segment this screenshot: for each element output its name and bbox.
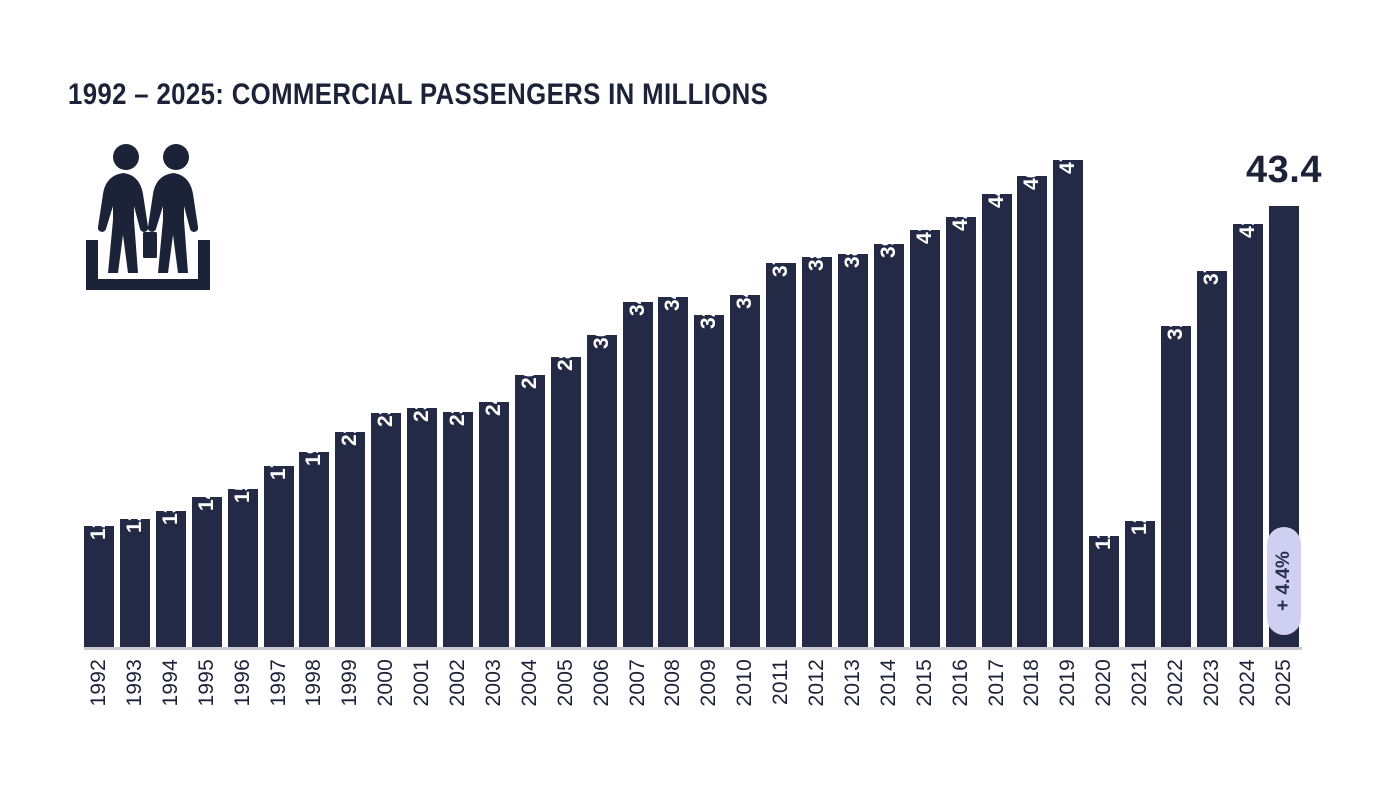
x-tick-label: 2007 — [626, 659, 650, 707]
bar-2025[interactable]: 43.4+ 4.4% — [1269, 206, 1299, 649]
bar-2004[interactable]: 26.8 — [515, 375, 545, 649]
x-tick-2015: 2015 — [910, 655, 940, 745]
bar-2002[interactable]: 23.2 — [443, 412, 473, 649]
x-tick-2003: 2003 — [479, 655, 509, 745]
x-tick-2024: 2024 — [1233, 655, 1263, 745]
x-tick-1993: 1993 — [120, 655, 150, 745]
bar-rect[interactable] — [264, 466, 294, 649]
x-tick-1994: 1994 — [156, 655, 186, 745]
x-tick-1995: 1995 — [192, 655, 222, 745]
x-tick-label: 2016 — [949, 659, 973, 707]
x-tick-1992: 1992 — [84, 655, 114, 745]
bar-rect[interactable] — [1125, 521, 1155, 649]
bar-1994[interactable]: 13.5 — [156, 511, 186, 649]
bar-2020[interactable]: 11.1 — [1089, 536, 1119, 649]
bar-1993[interactable]: 12.7 — [120, 519, 150, 649]
bar-2014[interactable]: 39.7 — [874, 244, 904, 649]
bar-value-label: 38.7 — [841, 226, 865, 268]
x-tick-label: 2012 — [805, 659, 829, 707]
bar-rect[interactable] — [84, 526, 114, 649]
bar-value-label: 31.6 — [1164, 298, 1188, 340]
x-tick-label: 2017 — [985, 659, 1009, 707]
bar-2005[interactable]: 28.6 — [551, 357, 581, 649]
x-tick-label: 2025 — [1272, 659, 1296, 707]
bar-rect[interactable] — [192, 497, 222, 649]
bar-rect[interactable] — [802, 257, 832, 649]
bar-rect[interactable] — [228, 489, 258, 649]
bars-container: 12.012.713.514.915.717.919.321.323.123.6… — [84, 160, 1299, 649]
x-tick-2022: 2022 — [1161, 655, 1191, 745]
bar-rect[interactable] — [1161, 326, 1191, 649]
bar-value-label: 44.6 — [985, 166, 1009, 208]
x-tick-2012: 2012 — [802, 655, 832, 745]
bar-value-label: 11.1 — [1092, 509, 1116, 550]
x-tick-2011: 2011 — [766, 655, 796, 745]
x-tick-label: 2019 — [1056, 659, 1080, 707]
x-tick-2001: 2001 — [407, 655, 437, 745]
x-tick-2010: 2010 — [730, 655, 760, 745]
bar-2022[interactable]: 31.6 — [1161, 326, 1191, 649]
bar-value-label: 47.9 — [1056, 132, 1080, 174]
x-tick-label: 2021 — [1128, 659, 1152, 707]
bar-2008[interactable]: 34.5 — [658, 297, 688, 649]
x-tick-label: 1995 — [195, 659, 219, 707]
x-tick-2018: 2018 — [1017, 655, 1047, 745]
axis-baseline — [84, 647, 1302, 650]
bar-value-label: 12.0 — [87, 498, 111, 540]
bar-value-label: 38.4 — [805, 229, 829, 271]
x-tick-label: 2010 — [733, 659, 757, 707]
bar-rect[interactable] — [838, 254, 868, 649]
bar-2024[interactable]: 41.6 — [1233, 224, 1263, 649]
bar-rect[interactable] — [1017, 176, 1047, 649]
bar-2003[interactable]: 24.2 — [479, 402, 509, 649]
bar-value-label: 32.7 — [697, 287, 721, 329]
x-tick-2013: 2013 — [838, 655, 868, 745]
x-tick-label: 2000 — [374, 659, 398, 707]
bar-value-label: 12.5 — [1128, 493, 1152, 535]
x-tick-1997: 1997 — [264, 655, 294, 745]
bar-rect[interactable] — [1233, 224, 1263, 649]
bar-2021[interactable]: 12.5 — [1125, 521, 1155, 649]
bar-value-label: 15.7 — [231, 461, 255, 503]
x-tick-label: 2023 — [1200, 659, 1224, 707]
x-tick-label: 2005 — [554, 659, 578, 707]
x-tick-label: 2006 — [590, 659, 614, 707]
bar-rect[interactable] — [658, 297, 688, 649]
bar-2006[interactable]: 30.8 — [587, 335, 617, 649]
x-tick-label: 2009 — [697, 659, 721, 707]
x-axis-labels: 1992199319941995199619971998199920002001… — [84, 655, 1302, 755]
x-tick-2023: 2023 — [1197, 655, 1227, 745]
bar-2019[interactable]: 47.9 — [1053, 160, 1083, 649]
x-tick-2014: 2014 — [874, 655, 904, 745]
x-tick-1999: 1999 — [335, 655, 365, 745]
x-tick-2006: 2006 — [587, 655, 617, 745]
bar-2018[interactable]: 46.3 — [1017, 176, 1047, 649]
x-tick-label: 2003 — [482, 659, 506, 707]
x-tick-2009: 2009 — [694, 655, 724, 745]
x-tick-2005: 2005 — [551, 655, 581, 745]
chart-canvas: 1992 – 2025: COMMERCIAL PASSENGERS IN MI… — [0, 0, 1400, 800]
bar-2016[interactable]: 42.3 — [946, 217, 976, 649]
bar-value-label: 13.5 — [159, 483, 183, 525]
bar-value-label: 14.9 — [195, 469, 219, 511]
bar-value-label: 26.8 — [518, 347, 542, 389]
bar-rect[interactable] — [371, 413, 401, 649]
bar-rect[interactable] — [299, 452, 329, 649]
bar-2013[interactable]: 38.7 — [838, 254, 868, 649]
bar-value-label: 34.5 — [661, 269, 685, 311]
bar-rect[interactable] — [407, 408, 437, 649]
bar-value-label: 37.0 — [1200, 243, 1224, 285]
bar-value-label: 24.2 — [482, 374, 506, 416]
bar-value-label: 23.6 — [410, 380, 434, 422]
bar-value-label: 34.0 — [626, 274, 650, 316]
x-tick-label: 2013 — [841, 659, 865, 707]
x-tick-label: 1999 — [338, 659, 362, 707]
x-tick-label: 1998 — [302, 659, 326, 707]
bar-value-label: 17.9 — [267, 438, 291, 480]
bar-value-label: 39.7 — [877, 216, 901, 258]
bar-2007[interactable]: 34.0 — [623, 302, 653, 649]
x-tick-label: 2004 — [518, 659, 542, 707]
bar-1997[interactable]: 17.9 — [264, 466, 294, 649]
bar-1995[interactable]: 14.9 — [192, 497, 222, 649]
bar-value-label: 37.8 — [769, 235, 793, 277]
page-title: 1992 – 2025: COMMERCIAL PASSENGERS IN MI… — [68, 78, 768, 112]
bar-value-label: 23.2 — [446, 384, 470, 426]
bar-value-label: 21.3 — [338, 404, 362, 446]
x-tick-label: 2022 — [1164, 659, 1188, 707]
x-tick-label: 2001 — [410, 659, 434, 707]
x-tick-2017: 2017 — [982, 655, 1012, 745]
bar-2023[interactable]: 37.0 — [1197, 271, 1227, 649]
bar-value-label: 41.6 — [1236, 196, 1260, 238]
x-tick-label: 2018 — [1020, 659, 1044, 707]
x-tick-2000: 2000 — [371, 655, 401, 745]
bar-value-label: 23.1 — [374, 385, 398, 427]
bar-value-label: 46.3 — [1020, 148, 1044, 190]
bar-2001[interactable]: 23.6 — [407, 408, 437, 649]
bar-1992[interactable]: 12.0 — [84, 526, 114, 649]
bar-value-label: 12.7 — [123, 491, 147, 533]
x-tick-label: 1996 — [231, 659, 255, 707]
bar-rect[interactable] — [515, 375, 545, 649]
x-tick-2019: 2019 — [1053, 655, 1083, 745]
bar-rect[interactable] — [120, 519, 150, 649]
growth-badge-label: + 4.4% — [1273, 551, 1295, 611]
bar-2015[interactable]: 41.0 — [910, 230, 940, 649]
bar-2017[interactable]: 44.6 — [982, 194, 1012, 649]
x-tick-2002: 2002 — [443, 655, 473, 745]
x-tick-label: 1997 — [267, 659, 291, 707]
x-tick-1998: 1998 — [299, 655, 329, 745]
bar-rect[interactable] — [443, 412, 473, 649]
bar-2010[interactable]: 34.7 — [730, 295, 760, 649]
x-tick-2004: 2004 — [515, 655, 545, 745]
bar-callout-value: 43.4 — [1246, 149, 1322, 192]
x-tick-label: 2020 — [1092, 659, 1116, 707]
bar-rect[interactable] — [623, 302, 653, 649]
x-tick-2025: 2025 — [1269, 655, 1299, 745]
bar-rect[interactable] — [694, 315, 724, 649]
bar-rect[interactable] — [1053, 160, 1083, 649]
bar-rect[interactable] — [1089, 536, 1119, 649]
bar-2000[interactable]: 23.1 — [371, 413, 401, 649]
bar-1996[interactable]: 15.7 — [228, 489, 258, 649]
bar-rect[interactable] — [335, 432, 365, 649]
x-tick-2016: 2016 — [946, 655, 976, 745]
bar-rect[interactable] — [587, 335, 617, 649]
bar-rect[interactable] — [982, 194, 1012, 649]
x-tick-2021: 2021 — [1125, 655, 1155, 745]
x-tick-label: 2024 — [1236, 659, 1260, 707]
bar-rect[interactable] — [946, 217, 976, 649]
bar-rect[interactable] — [551, 357, 581, 649]
growth-badge: + 4.4% — [1267, 527, 1301, 635]
x-tick-label: 2015 — [913, 659, 937, 707]
x-tick-label: 1992 — [87, 659, 111, 707]
bar-rect[interactable] — [766, 263, 796, 649]
x-tick-label: 2008 — [661, 659, 685, 707]
x-tick-label: 2002 — [446, 659, 470, 707]
bar-rect[interactable] — [1197, 271, 1227, 649]
bar-2011[interactable]: 37.8 — [766, 263, 796, 649]
bar-value-label: 28.6 — [554, 329, 578, 371]
bar-rect[interactable] — [910, 230, 940, 649]
bar-value-label: 30.8 — [590, 307, 614, 349]
bar-2012[interactable]: 38.4 — [802, 257, 832, 649]
x-tick-label: 1993 — [123, 659, 147, 707]
bar-value-label: 19.3 — [302, 424, 326, 466]
x-tick-2020: 2020 — [1089, 655, 1119, 745]
bar-rect[interactable] — [156, 511, 186, 649]
bar-rect[interactable] — [479, 402, 509, 649]
bar-1998[interactable]: 19.3 — [299, 452, 329, 649]
bar-rect[interactable] — [730, 295, 760, 649]
bar-2009[interactable]: 32.7 — [694, 315, 724, 649]
x-tick-label: 2014 — [877, 659, 901, 707]
bar-value-label: 34.7 — [733, 267, 757, 309]
x-tick-2007: 2007 — [623, 655, 653, 745]
x-tick-2008: 2008 — [658, 655, 688, 745]
bar-1999[interactable]: 21.3 — [335, 432, 365, 649]
bar-value-label: 41.0 — [913, 202, 937, 244]
x-tick-1996: 1996 — [228, 655, 258, 745]
x-tick-label: 2011 — [769, 659, 793, 705]
bar-rect[interactable] — [874, 244, 904, 649]
x-tick-label: 1994 — [159, 659, 183, 707]
bar-value-label: 42.3 — [949, 189, 973, 231]
